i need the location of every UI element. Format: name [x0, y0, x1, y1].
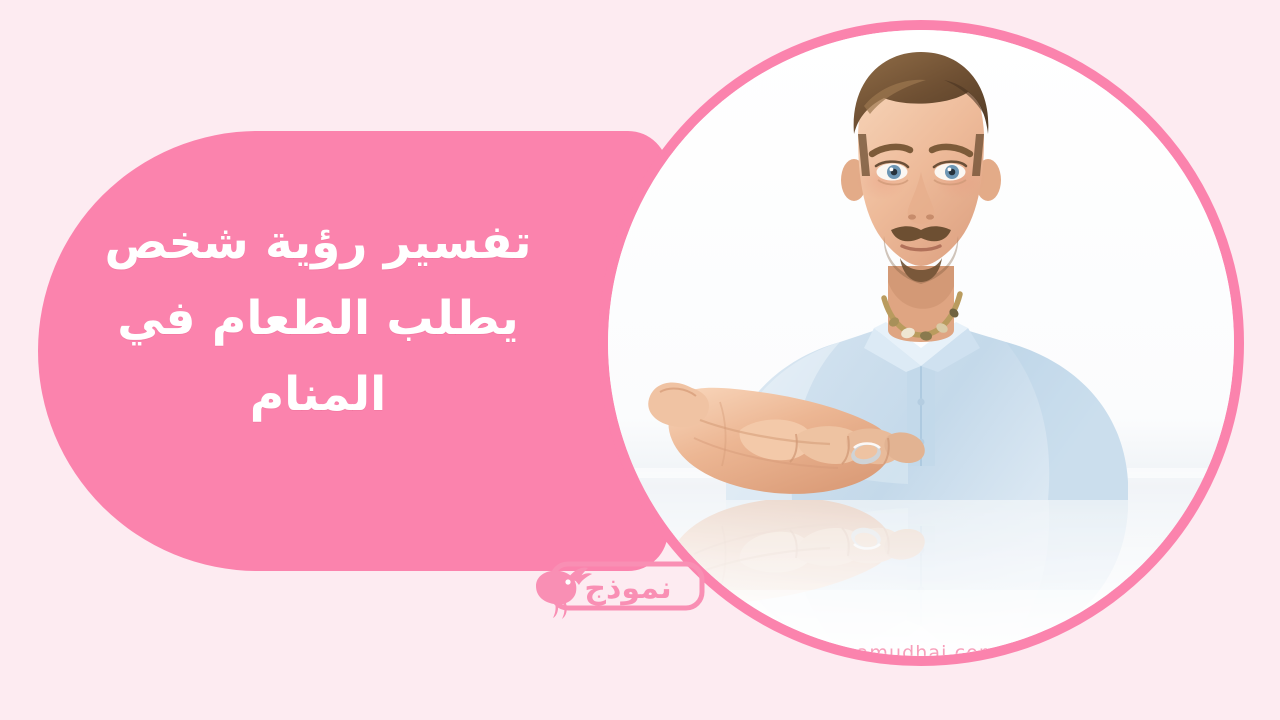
banner: تفسير رؤية شخص يطلب الطعام في المنام [0, 0, 1280, 720]
title-line-2: يطلب الطعام في [62, 281, 574, 357]
title-line-1: تفسير رؤية شخص [62, 205, 574, 281]
page-title: تفسير رؤية شخص يطلب الطعام في المنام [38, 205, 598, 433]
watermark: namudhaj.com [608, 642, 1234, 656]
logo-wordmark: نموذج [584, 571, 671, 606]
logo-graphic: نموذج [528, 558, 706, 620]
site-logo[interactable]: نموذج [528, 558, 706, 620]
title-line-3: المنام [62, 357, 574, 433]
